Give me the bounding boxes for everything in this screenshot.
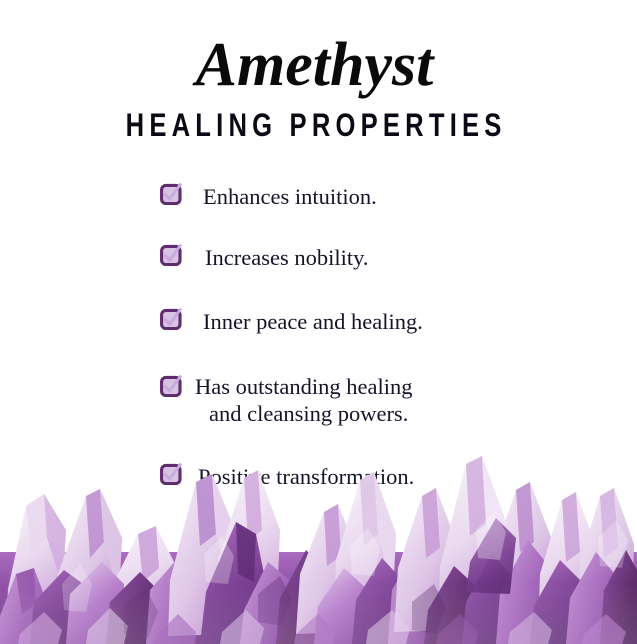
properties-list: Enhances intuition. Increases nobility. — [0, 183, 637, 493]
list-item-line: Increases nobility. — [205, 245, 369, 270]
checked-checkbox-icon — [160, 463, 182, 485]
list-item-label: Positive transformation. — [0, 463, 637, 490]
page-title: Amethyst — [0, 34, 633, 96]
checked-checkbox-icon — [160, 375, 182, 397]
list-item-label: Has outstanding healing and cleansing po… — [0, 373, 637, 427]
list-item-line: Inner peace and healing. — [203, 309, 423, 334]
list-item-line: and cleansing powers. — [195, 400, 637, 427]
list-item: Increases nobility. — [0, 244, 637, 274]
list-item: Enhances intuition. — [0, 183, 637, 213]
checked-checkbox-icon — [160, 308, 182, 330]
poster-header: Amethyst HEALING PROPERTIES — [0, 34, 637, 141]
list-item-label: Inner peace and healing. — [0, 308, 637, 335]
poster-canvas: Amethyst HEALING PROPERTIES Enhances int… — [0, 0, 637, 644]
list-item-line: Has outstanding healing — [195, 374, 412, 399]
checked-checkbox-icon — [160, 244, 182, 266]
list-item-line: Enhances intuition. — [203, 184, 377, 209]
list-item: Positive transformation. — [0, 463, 637, 493]
page-subtitle: HEALING PROPERTIES — [61, 109, 571, 141]
list-item: Inner peace and healing. — [0, 308, 637, 338]
list-item: Has outstanding healing and cleansing po… — [0, 373, 637, 427]
list-item-label: Increases nobility. — [0, 244, 637, 271]
checked-checkbox-icon — [160, 183, 182, 205]
list-item-line: Positive transformation. — [198, 464, 414, 489]
list-item-label: Enhances intuition. — [0, 183, 637, 210]
